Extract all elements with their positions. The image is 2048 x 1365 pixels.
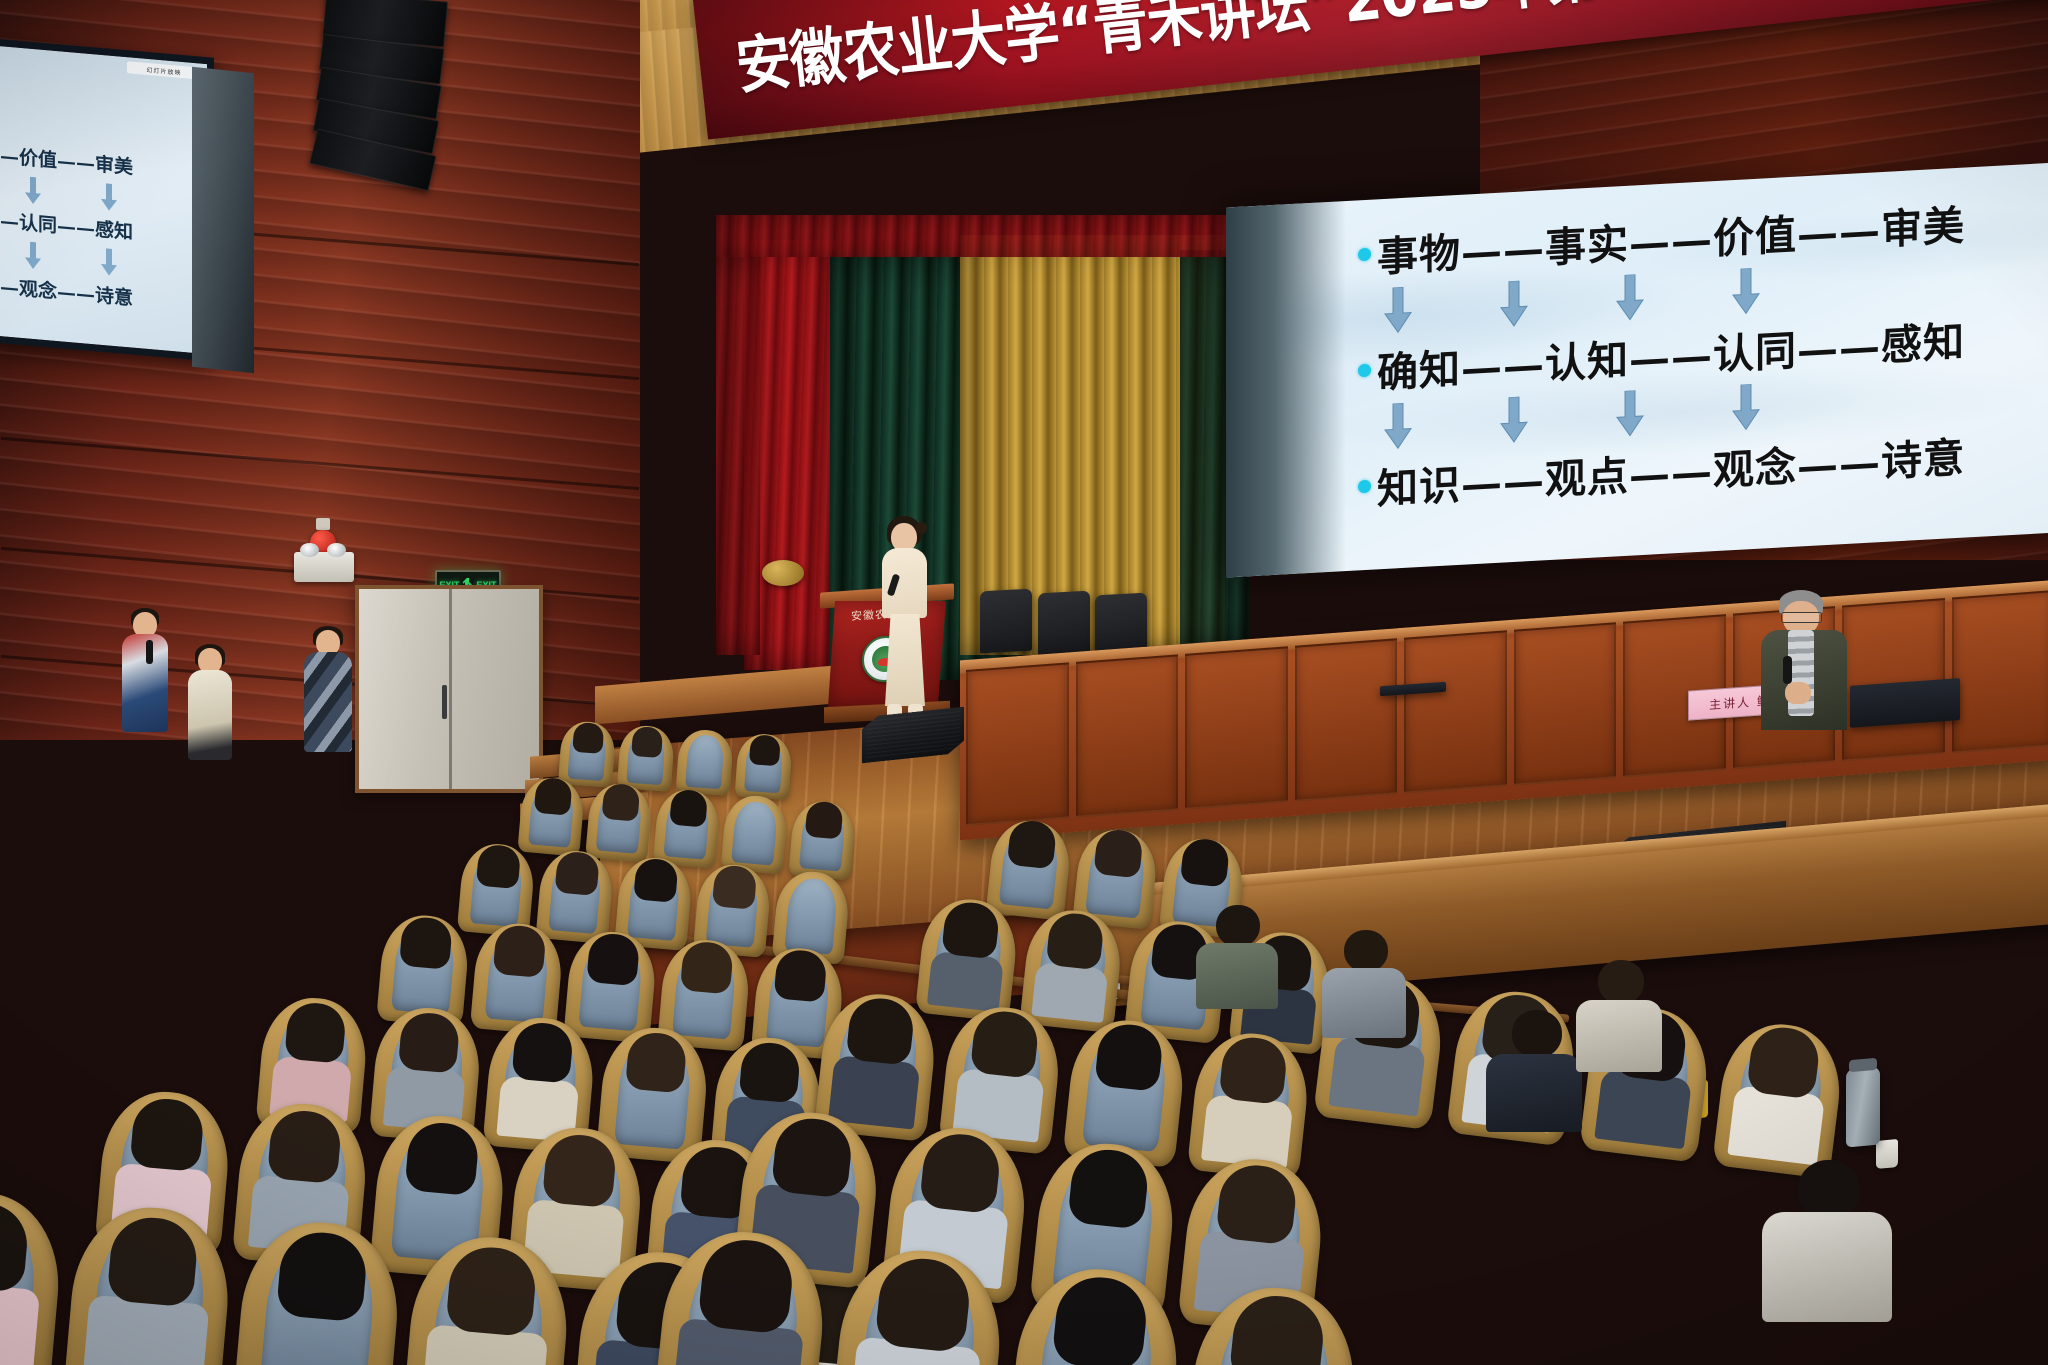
front-desk-guest-4 xyxy=(1576,960,1662,1070)
arrow-down-icon xyxy=(25,241,41,270)
audience-head xyxy=(398,1011,461,1074)
emergency-light xyxy=(294,552,354,582)
audience-head xyxy=(276,1229,369,1322)
eyeglasses-icon xyxy=(1781,612,1822,623)
microphone-icon xyxy=(146,640,153,664)
presenter-torso xyxy=(882,548,927,618)
side-screen-bezel xyxy=(192,67,254,374)
audience-head xyxy=(625,1031,688,1094)
audience-body xyxy=(0,1280,40,1365)
arrow-down-icon xyxy=(25,176,41,205)
audience-head xyxy=(738,1041,801,1104)
guest-jacket xyxy=(1576,1000,1662,1072)
seat[interactable] xyxy=(828,1243,1008,1365)
stage-chair-1 xyxy=(980,589,1032,654)
audience-head xyxy=(586,932,640,986)
seat[interactable] xyxy=(1182,1280,1362,1365)
audience-head xyxy=(129,1096,205,1172)
seat[interactable] xyxy=(0,1187,66,1365)
guest-head xyxy=(1598,960,1644,1004)
audience-head xyxy=(493,924,547,978)
seat[interactable] xyxy=(788,799,856,880)
curtain-red-left-fold xyxy=(716,255,760,655)
side-screen-arrows-2 xyxy=(25,241,117,277)
hanging-line-array-speaker xyxy=(310,0,446,191)
side-screen-row-1: ——价值——审美 xyxy=(0,139,133,179)
audience-head xyxy=(633,858,679,904)
audience-head xyxy=(631,726,663,758)
audience-head xyxy=(476,844,522,890)
auditorium-photo: 幻灯片放映 ——价值——审美 ——认同——感知 ——观念——诗意 xyxy=(0,0,2048,1365)
audience-head xyxy=(941,900,1000,959)
audience-head xyxy=(399,915,453,969)
front-desk-guest-3 xyxy=(1486,1010,1582,1130)
seat[interactable] xyxy=(517,776,585,857)
slideshow-toolbar: 幻灯片放映 xyxy=(127,61,201,79)
guest-jacket xyxy=(1322,968,1406,1038)
audience-head xyxy=(712,864,758,910)
arrow-down-icon xyxy=(101,248,117,277)
audience-head xyxy=(284,1001,347,1064)
guest-head xyxy=(1798,1160,1860,1220)
seat[interactable] xyxy=(735,732,793,800)
audience-head xyxy=(919,1130,1003,1214)
audience-head xyxy=(749,734,781,766)
arrow-down-icon xyxy=(1616,274,1644,322)
audience-head xyxy=(697,1236,796,1335)
arrow-down-icon xyxy=(1500,396,1528,444)
audience-body xyxy=(1328,1036,1426,1116)
audience-head xyxy=(511,1021,574,1084)
curtain-valance-top xyxy=(716,215,1256,257)
guest-jacket xyxy=(1762,1212,1892,1322)
emergency-lamp-right xyxy=(327,543,346,557)
audience-head xyxy=(1746,1024,1822,1100)
guest-jacket xyxy=(1196,943,1278,1009)
seat[interactable] xyxy=(585,782,653,863)
seat[interactable] xyxy=(1005,1261,1185,1365)
seat[interactable] xyxy=(401,1231,574,1365)
seat[interactable] xyxy=(721,793,789,874)
audience-body xyxy=(1594,1069,1692,1149)
front-desk-guest-5 xyxy=(1762,1160,1892,1320)
side-projection-screen: 幻灯片放映 ——价值——审美 ——认同——感知 ——观念——诗意 xyxy=(0,38,214,362)
guest-head xyxy=(1512,1010,1562,1058)
audience-head xyxy=(1094,1022,1164,1092)
audience-head xyxy=(1046,911,1105,970)
audience-head xyxy=(1180,837,1231,888)
audience-head xyxy=(555,851,601,897)
audience-head xyxy=(542,1132,618,1208)
front-desk-guest-2 xyxy=(1322,930,1406,1034)
guest-jacket xyxy=(1486,1054,1582,1132)
audience-head xyxy=(669,789,708,828)
arrow-down-icon xyxy=(1732,268,1760,316)
seat[interactable] xyxy=(651,1224,831,1365)
guest-head xyxy=(1216,905,1260,947)
audience-head xyxy=(106,1214,199,1307)
arrow-down-icon xyxy=(101,183,117,212)
microphone-icon xyxy=(1783,656,1792,684)
seat[interactable] xyxy=(617,724,675,792)
seat[interactable] xyxy=(653,787,721,868)
audience-head xyxy=(534,777,573,816)
emergency-lamp-left xyxy=(300,543,319,557)
audience-head xyxy=(1051,1273,1150,1365)
audience-head xyxy=(572,722,604,754)
audience-head xyxy=(680,940,734,994)
seat[interactable] xyxy=(676,728,734,796)
arrow-down-icon xyxy=(1384,402,1412,450)
audience-head xyxy=(771,1115,855,1199)
front-desk-guest-1 xyxy=(1196,905,1278,1005)
presenter-hair-bun xyxy=(916,522,927,534)
audience-seating xyxy=(0,700,2048,1365)
bullet-icon xyxy=(1358,363,1371,377)
audience-head xyxy=(874,1254,973,1353)
audience-head xyxy=(1218,1035,1288,1105)
slide-content: 事物——事实——价值——审美 确知——认知——认同——感知 知识—— xyxy=(1358,185,2048,562)
fire-bell-mount xyxy=(316,518,330,530)
audience-head xyxy=(805,801,844,840)
seat[interactable] xyxy=(63,1201,236,1365)
screen-shadow-edge xyxy=(1226,201,1346,577)
audience-body xyxy=(82,1295,210,1365)
seat[interactable] xyxy=(1712,1018,1847,1179)
audience-body xyxy=(1727,1085,1825,1165)
audience-head xyxy=(970,1009,1040,1079)
guest-head xyxy=(1344,930,1388,972)
stage-chair-2 xyxy=(1038,591,1090,656)
side-screen-arrows-1 xyxy=(25,176,117,212)
audience-head xyxy=(601,783,640,822)
audience-head xyxy=(1093,828,1144,879)
arrow-down-icon xyxy=(1384,286,1412,334)
arrow-down-icon xyxy=(1732,384,1760,432)
bullet-icon xyxy=(1358,247,1371,261)
presenter-skirt xyxy=(885,614,925,706)
audience-head xyxy=(445,1244,538,1337)
audience-head xyxy=(1007,819,1058,870)
audience-head xyxy=(1228,1292,1327,1365)
curtain-tieback xyxy=(762,560,804,586)
audience-head xyxy=(267,1108,343,1184)
audience-head xyxy=(1215,1161,1299,1245)
audience-head xyxy=(774,948,828,1002)
audience-head xyxy=(845,996,915,1066)
main-projection-screen: 事物——事实——价值——审美 确知——认知——认同——感知 知识—— xyxy=(1226,162,2048,577)
arrow-down-icon xyxy=(1616,390,1644,438)
seat[interactable] xyxy=(558,720,616,788)
audience-head xyxy=(1067,1146,1151,1230)
audience-head xyxy=(404,1120,480,1196)
bullet-icon xyxy=(1358,479,1371,493)
seat[interactable] xyxy=(232,1216,405,1365)
presenter-woman xyxy=(868,516,940,726)
arrow-down-icon xyxy=(1500,280,1528,328)
